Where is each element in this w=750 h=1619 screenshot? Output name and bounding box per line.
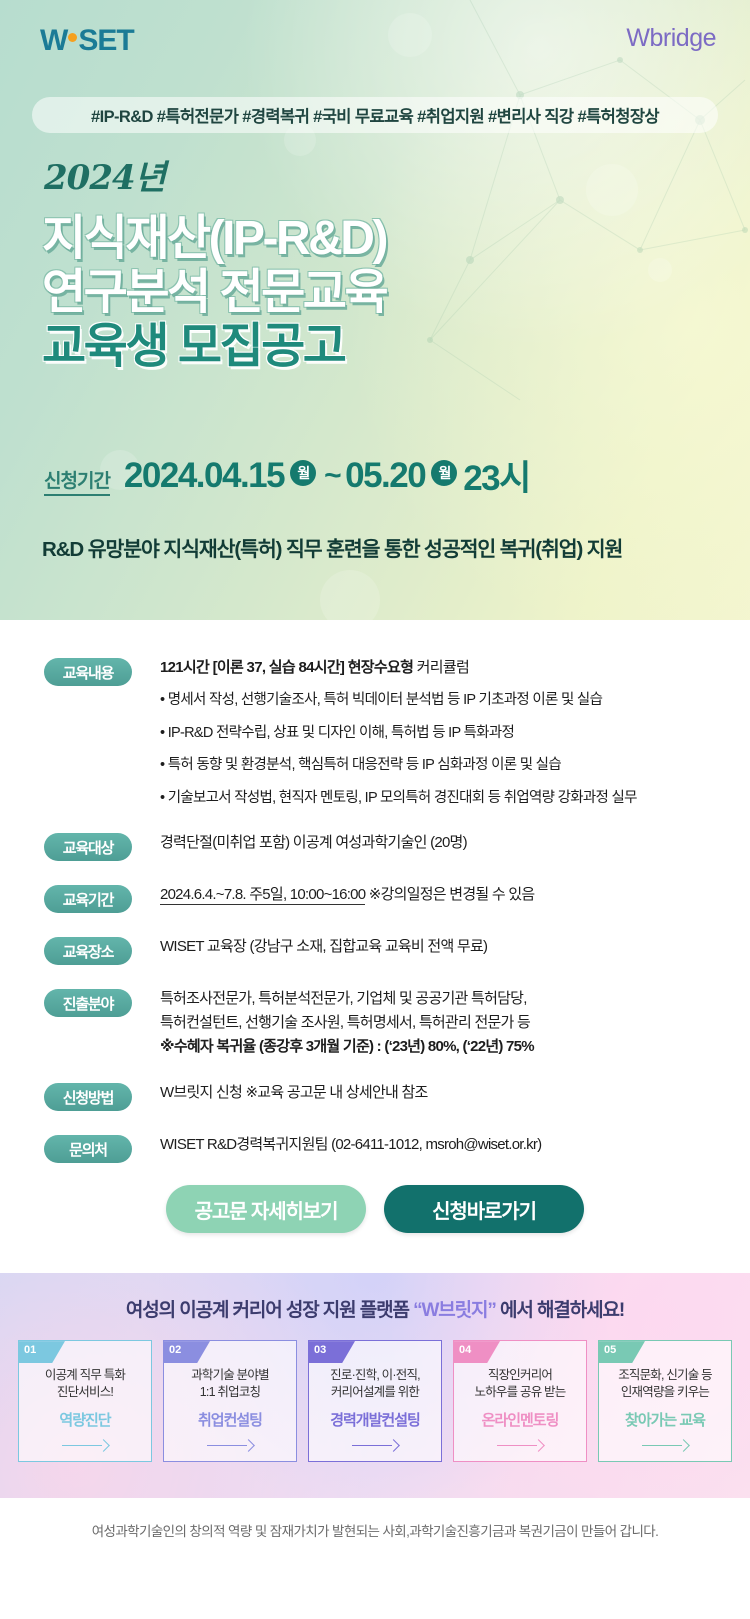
field-line-3-bold: ※수혜자 복귀율 (종강후 3개월 기준) : bbox=[160, 1038, 381, 1055]
period-label: 신청기간 bbox=[44, 466, 110, 496]
promo-title-highlight: “W브릿지” bbox=[413, 1300, 496, 1321]
badge-content: 교육내용 bbox=[44, 658, 132, 686]
period-end-day: 월 bbox=[431, 460, 457, 486]
contact-body: WISET R&D경력복귀지원팀 (02-6411-1012, msroh@wi… bbox=[160, 1133, 541, 1157]
field-line-3: ※수혜자 복귀율 (종강후 3개월 기준) : (‘23년) 80%, (‘22… bbox=[160, 1035, 534, 1059]
detail-row-target: 교육대상 경력단절(미취업 포함) 이공계 여성과학기술인 (20명) bbox=[0, 831, 750, 861]
duration-body: 2024.6.4.~7.8. 주5일, 10:00~16:00 ※강의일정은 변… bbox=[160, 883, 534, 907]
card-desc-line2: 1:1 취업코칭 bbox=[200, 1385, 260, 1399]
card-desc-line2: 커리어설계를 위한 bbox=[331, 1385, 419, 1399]
badge-apply: 신청방법 bbox=[44, 1083, 132, 1111]
card-description: 이공계 직무 특화진단서비스! bbox=[45, 1367, 125, 1401]
card-title: 경력개발컨설팅 bbox=[330, 1409, 420, 1430]
card-title: 찾아가는 교육 bbox=[625, 1409, 705, 1430]
content-bullet: • 명세서 작성, 선행기술조사, 특허 빅데이터 분석법 등 IP 기초과정 … bbox=[160, 689, 637, 711]
duration-main: 2024.6.4.~7.8. 주5일, 10:00~16:00 bbox=[160, 886, 365, 905]
promo-card[interactable]: 01 이공계 직무 특화진단서비스! 역량진단 bbox=[18, 1340, 152, 1462]
wiset-logo-dot bbox=[68, 33, 77, 42]
arrow-right-icon[interactable] bbox=[207, 1440, 253, 1450]
content-headline: 121시간 [이론 37, 실습 84시간] 현장수요형 커리큘럼 bbox=[160, 656, 637, 679]
detail-row-place: 교육장소 WISET 교육장 (강남구 소재, 집합교육 교육비 전액 무료) bbox=[0, 935, 750, 965]
wbridge-logo: Wbridge bbox=[626, 24, 716, 53]
view-notice-button[interactable]: 공고문 자세히보기 bbox=[166, 1185, 366, 1233]
card-desc-line1: 과학기술 분야별 bbox=[191, 1368, 269, 1382]
period-start: 2024.04.15 bbox=[124, 456, 284, 496]
detail-row-field: 진출분야 특허조사전문가, 특허분석전문가, 기업체 및 공공기관 특허담당, … bbox=[0, 987, 750, 1059]
content-bullet: • 특허 동향 및 환경분석, 핵심특허 대응전략 등 IP 심화과정 이론 및… bbox=[160, 754, 637, 776]
card-title: 취업컨설팅 bbox=[198, 1409, 262, 1430]
target-text: 경력단절(미취업 포함) 이공계 여성과학기술인 (20명) bbox=[160, 831, 467, 855]
hashtag-bar: #IP-R&D #특허전문가 #경력복귀 #국비 무료교육 #취업지원 #변리사… bbox=[32, 97, 718, 133]
card-number-badge: 03 bbox=[309, 1341, 355, 1363]
target-body: 경력단절(미취업 포함) 이공계 여성과학기술인 (20명) bbox=[160, 831, 467, 855]
field-line-3-rest: (‘23년) 80%, (‘22년) 75% bbox=[381, 1038, 534, 1055]
promo-card[interactable]: 04 직장인커리어노하우를 공유 받는 온라인멘토링 bbox=[453, 1340, 587, 1462]
duration-note: ※강의일정은 변경될 수 있음 bbox=[365, 886, 534, 903]
field-line-1: 특허조사전문가, 특허분석전문가, 기업체 및 공공기관 특허담당, bbox=[160, 987, 534, 1011]
card-number-badge: 04 bbox=[454, 1341, 500, 1363]
arrow-right-icon[interactable] bbox=[352, 1440, 398, 1450]
title-line-1: 지식재산(IP-R&D) bbox=[42, 212, 386, 266]
card-desc-line1: 직장인커리어 bbox=[488, 1368, 552, 1382]
promo-card-list: 01 이공계 직무 특화진단서비스! 역량진단 02 과학기술 분야별1:1 취… bbox=[0, 1340, 750, 1462]
card-description: 과학기술 분야별1:1 취업코칭 bbox=[191, 1367, 269, 1401]
apply-text: W브릿지 신청 ※교육 공고문 내 상세안내 참조 bbox=[160, 1081, 428, 1105]
main-title: 지식재산(IP-R&D) 연구분석 전문교육 교육생 모집공고 bbox=[42, 212, 386, 373]
promo-card[interactable]: 05 조직문화, 신기술 등인재역량을 키우는 찾아가는 교육 bbox=[598, 1340, 732, 1462]
arrow-right-icon[interactable] bbox=[642, 1440, 688, 1450]
field-line-2: 특허컨설턴트, 선행기술 조사원, 특허명세서, 특허관리 전문가 등 bbox=[160, 1011, 534, 1035]
period-value: 2024.04.15 월 ~ 05.20 월 23시 bbox=[124, 450, 530, 501]
card-desc-line1: 이공계 직무 특화 bbox=[45, 1368, 125, 1382]
hero-banner: WSET Wbridge #IP-R&D #특허전문가 #경력복귀 #국비 무료… bbox=[0, 0, 750, 620]
content-headline-rest: 커리큘럼 bbox=[413, 659, 469, 676]
hashtag-text: #IP-R&D #특허전문가 #경력복귀 #국비 무료교육 #취업지원 #변리사… bbox=[91, 103, 659, 127]
card-description: 직장인커리어노하우를 공유 받는 bbox=[475, 1367, 566, 1401]
card-desc-line2: 노하우를 공유 받는 bbox=[475, 1385, 566, 1399]
badge-contact: 문의처 bbox=[44, 1135, 132, 1163]
footer: 여성과학기술인의 창의적 역량 및 잠재가치가 발현되는 사회,과학기술진흥기금… bbox=[0, 1498, 750, 1562]
place-text: WISET 교육장 (강남구 소재, 집합교육 교육비 전액 무료) bbox=[160, 935, 487, 959]
contact-text: WISET R&D경력복귀지원팀 (02-6411-1012, msroh@wi… bbox=[160, 1133, 541, 1157]
duration-text: 2024.6.4.~7.8. 주5일, 10:00~16:00 ※강의일정은 변… bbox=[160, 883, 534, 907]
card-desc-line1: 조직문화, 신기술 등 bbox=[618, 1368, 712, 1382]
content-bullet: • IP-R&D 전략수립, 상표 및 디자인 이해, 특허법 등 IP 특화과… bbox=[160, 722, 637, 744]
card-desc-line1: 진로·진학, 이·전직, bbox=[330, 1368, 420, 1382]
detail-row-contact: 문의처 WISET R&D경력복귀지원팀 (02-6411-1012, msro… bbox=[0, 1133, 750, 1163]
promo-card[interactable]: 02 과학기술 분야별1:1 취업코칭 취업컨설팅 bbox=[163, 1340, 297, 1462]
details-section: 교육내용 121시간 [이론 37, 실습 84시간] 현장수요형 커리큘럼 •… bbox=[0, 620, 750, 1273]
detail-row-apply: 신청방법 W브릿지 신청 ※교육 공고문 내 상세안내 참조 bbox=[0, 1081, 750, 1111]
content-bullet: • 기술보고서 작성법, 현직자 멘토링, IP 모의특허 경진대회 등 취업역… bbox=[160, 787, 637, 809]
cta-button-row: 공고문 자세히보기 신청바로가기 bbox=[0, 1185, 750, 1273]
promo-card[interactable]: 03 진로·진학, 이·전직,커리어설계를 위한 경력개발컨설팅 bbox=[308, 1340, 442, 1462]
card-title: 온라인멘토링 bbox=[482, 1409, 559, 1430]
card-description: 진로·진학, 이·전직,커리어설계를 위한 bbox=[330, 1367, 420, 1401]
badge-target: 교육대상 bbox=[44, 833, 132, 861]
year-label: 2024년 bbox=[44, 150, 165, 199]
promo-title: 여성의 이공계 커리어 성장 지원 플랫폼 “W브릿지” 에서 해결하세요! bbox=[0, 1273, 750, 1322]
footer-text: 여성과학기술인의 창의적 역량 및 잠재가치가 발현되는 사회,과학기술진흥기금… bbox=[92, 1520, 659, 1540]
content-body: 121시간 [이론 37, 실습 84시간] 현장수요형 커리큘럼 • 명세서 … bbox=[160, 656, 637, 809]
apply-body: W브릿지 신청 ※교육 공고문 내 상세안내 참조 bbox=[160, 1081, 428, 1105]
apply-now-button[interactable]: 신청바로가기 bbox=[384, 1185, 584, 1233]
period-end: 05.20 bbox=[345, 456, 425, 496]
application-period: 신청기간 2024.04.15 월 ~ 05.20 월 23시 bbox=[44, 450, 530, 501]
title-line-2: 연구분석 전문교육 bbox=[42, 266, 386, 320]
place-body: WISET 교육장 (강남구 소재, 집합교육 교육비 전액 무료) bbox=[160, 935, 487, 959]
card-description: 조직문화, 신기술 등인재역량을 키우는 bbox=[618, 1367, 712, 1401]
promo-title-pre: 여성의 이공계 커리어 성장 지원 플랫폼 bbox=[126, 1300, 413, 1321]
period-separator: ~ bbox=[324, 459, 340, 493]
badge-place: 교육장소 bbox=[44, 937, 132, 965]
field-body: 특허조사전문가, 특허분석전문가, 기업체 및 공공기관 특허담당, 특허컨설턴… bbox=[160, 987, 534, 1059]
detail-row-duration: 교육기간 2024.6.4.~7.8. 주5일, 10:00~16:00 ※강의… bbox=[0, 883, 750, 913]
card-number-badge: 05 bbox=[599, 1341, 645, 1363]
card-desc-line2: 진단서비스! bbox=[57, 1385, 113, 1399]
period-start-day: 월 bbox=[290, 460, 316, 486]
content-headline-bold: 121시간 [이론 37, 실습 84시간] 현장수요형 bbox=[160, 659, 413, 676]
promo-section: 여성의 이공계 커리어 성장 지원 플랫폼 “W브릿지” 에서 해결하세요! 0… bbox=[0, 1273, 750, 1498]
card-desc-line2: 인재역량을 키우는 bbox=[621, 1385, 709, 1399]
badge-field: 진출분야 bbox=[44, 989, 132, 1017]
period-time: 23시 bbox=[463, 450, 530, 501]
arrow-right-icon[interactable] bbox=[62, 1440, 108, 1450]
arrow-right-icon[interactable] bbox=[497, 1440, 543, 1450]
title-line-3: 교육생 모집공고 bbox=[42, 320, 386, 374]
card-number-badge: 02 bbox=[164, 1341, 210, 1363]
card-number-badge: 01 bbox=[19, 1341, 65, 1363]
detail-row-content: 교육내용 121시간 [이론 37, 실습 84시간] 현장수요형 커리큘럼 •… bbox=[0, 656, 750, 809]
card-title: 역량진단 bbox=[59, 1409, 110, 1430]
badge-duration: 교육기간 bbox=[44, 885, 132, 913]
promo-title-post: 에서 해결하세요! bbox=[496, 1300, 624, 1321]
hero-subtitle: R&D 유망분야 지식재산(특허) 직무 훈련을 통한 성공적인 복귀(취업) … bbox=[42, 532, 622, 562]
wiset-logo: WSET bbox=[40, 24, 134, 58]
